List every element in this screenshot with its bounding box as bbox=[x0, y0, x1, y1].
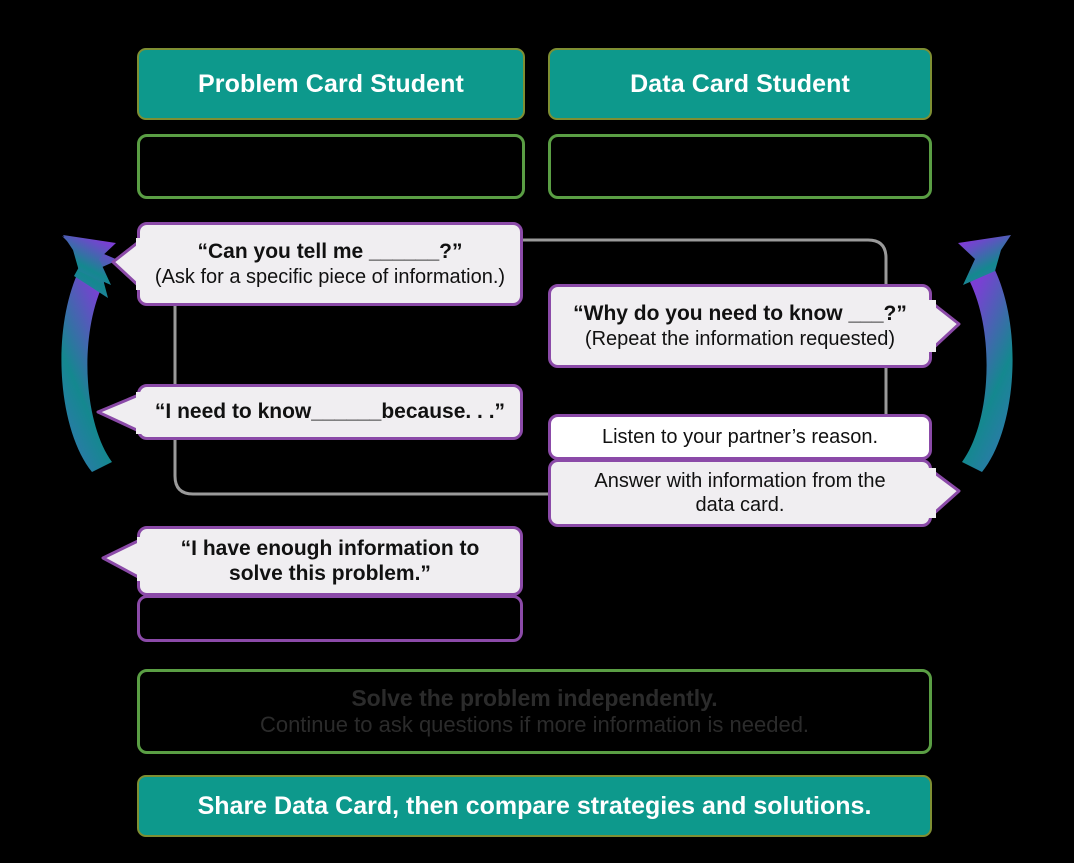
bubble-ask-question-line1: “Can you tell me ______?” bbox=[198, 239, 463, 264]
bubble-why-question-line1: “Why do you need to know ___?” bbox=[573, 301, 907, 326]
bubble-enough-information-line2: solve this problem.” bbox=[229, 561, 431, 586]
bubble-listen-reason[interactable]: Listen to your partner’s reason. bbox=[548, 414, 932, 460]
bubble-enough-information[interactable]: “I have enough information to solve this… bbox=[137, 526, 523, 596]
bubble-answer-from-data-card-line2: data card. bbox=[696, 493, 785, 517]
bubble-answer-from-data-card[interactable]: Answer with information from the data ca… bbox=[548, 459, 932, 527]
info-graphic-canvas: Problem Card Student Data Card Student “… bbox=[0, 0, 1074, 863]
left-cycle-arrow bbox=[61, 235, 118, 472]
bubble-ask-question[interactable]: “Can you tell me ______?” (Ask for a spe… bbox=[137, 222, 523, 306]
bubble-why-question[interactable]: “Why do you need to know ___?” (Repeat t… bbox=[548, 284, 932, 368]
bubble-i-need-to-know[interactable]: “I need to know______because. . .” bbox=[137, 384, 523, 440]
right-cycle-arrow bbox=[958, 235, 1013, 472]
bubble-i-need-to-know-line1: “I need to know______because. . .” bbox=[155, 399, 505, 424]
bubble-enough-information-line1: “I have enough information to bbox=[181, 536, 480, 561]
bubble-why-question-line2: (Repeat the information requested) bbox=[585, 327, 895, 351]
bubble-ask-question-line2: (Ask for a specific piece of information… bbox=[155, 265, 505, 289]
bubble-answer-from-data-card-line1: Answer with information from the bbox=[594, 469, 885, 493]
bubble-listen-reason-line1: Listen to your partner’s reason. bbox=[602, 425, 878, 449]
